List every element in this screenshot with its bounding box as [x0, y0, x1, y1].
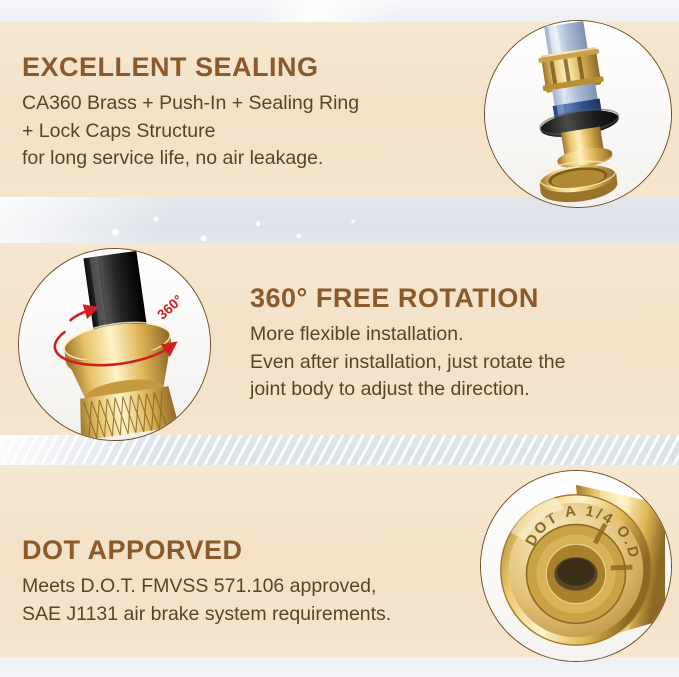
feature-body-line: Even after installation, just rotate the	[250, 349, 670, 377]
feature-body-line: + Lock Caps Structure	[22, 118, 452, 146]
page-title-excellent-sealing: EXCELLENT SEALING	[22, 52, 452, 83]
feature-text-excellent-sealing: EXCELLENT SEALING CA360 Brass + Push-In …	[22, 52, 452, 173]
feature-body-line: joint body to adjust the direction.	[250, 376, 670, 404]
feature-body-line: CA360 Brass + Push-In + Sealing Ring	[22, 90, 452, 118]
page-title-dot-approved: DOT APPORVED	[22, 535, 462, 566]
feature-text-dot-approved: DOT APPORVED Meets D.O.T. FMVSS 571.106 …	[22, 535, 462, 628]
infographic-page: EXCELLENT SEALING CA360 Brass + Push-In …	[0, 0, 679, 677]
feature-body-line: for long service life, no air leakage.	[22, 145, 452, 173]
page-title-free-rotation: 360° FREE ROTATION	[250, 283, 670, 314]
feature-text-free-rotation: 360° FREE ROTATION More flexible install…	[250, 283, 670, 404]
dot-stamp-photo: DOT A 1/4 O.D	[480, 470, 672, 662]
feature-body-line: SAE J1131 air brake system requirements.	[22, 601, 462, 629]
feature-body-line: More flexible installation.	[250, 321, 670, 349]
exploded-push-in-fitting-photo	[484, 20, 672, 208]
feature-body-line: Meets D.O.T. FMVSS 571.106 approved,	[22, 573, 462, 601]
rotating-joint-photo: 360°	[18, 248, 211, 441]
